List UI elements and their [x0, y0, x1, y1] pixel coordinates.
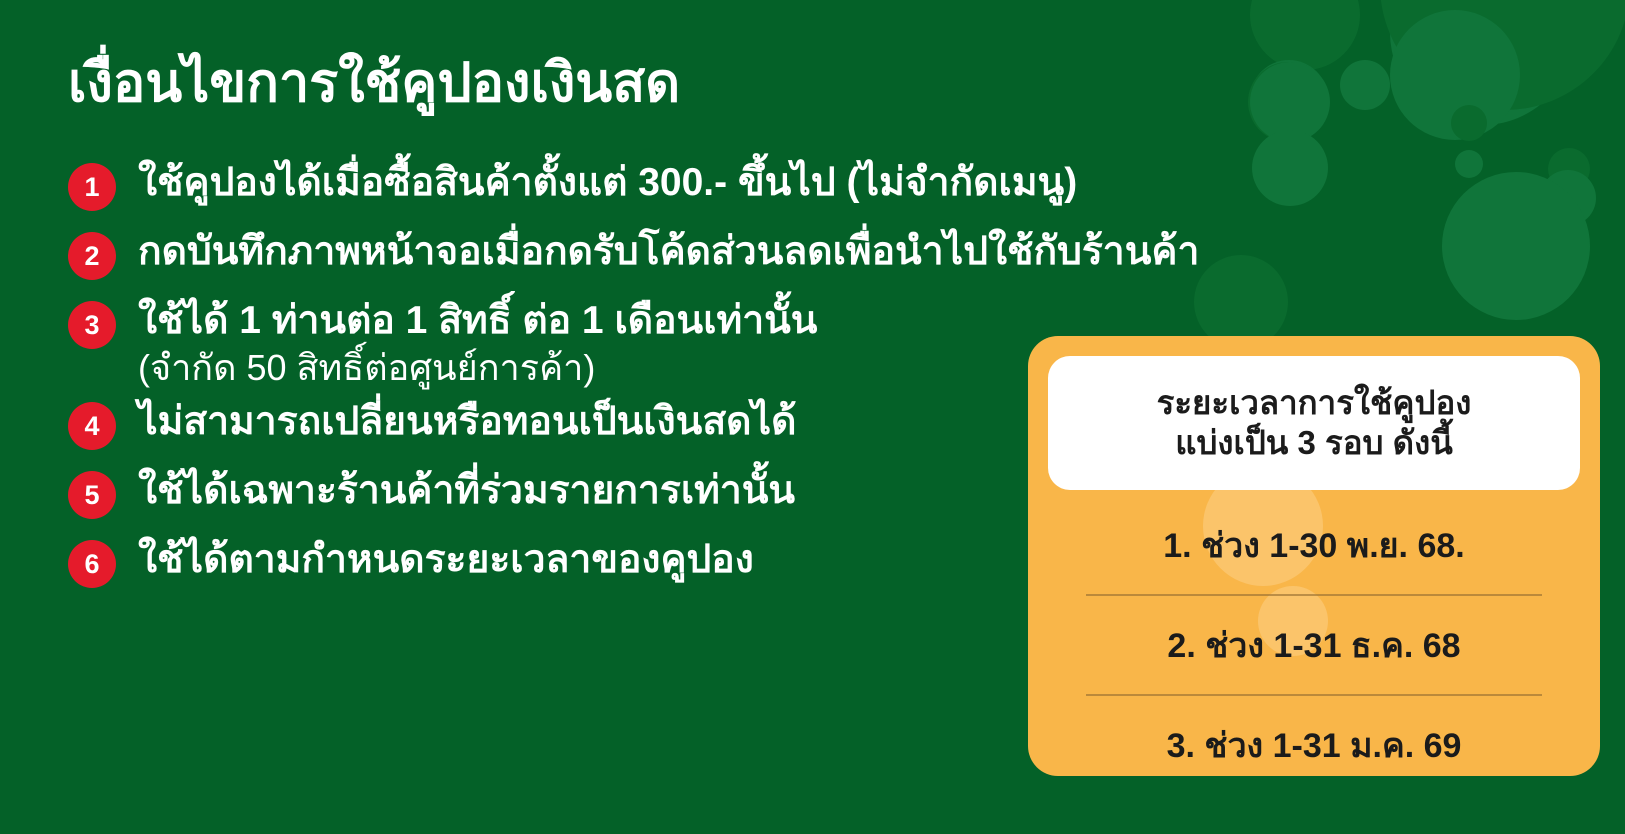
- conditions-list: 1 ใช้คูปองได้เมื่อซื้อสินค้าตั้งแต่ 300.…: [68, 160, 1018, 606]
- bokeh-circle: [1442, 172, 1590, 320]
- period-rows: 1. ช่วง 1-30 พ.ย. 68. 2. ช่วง 1-31 ธ.ค. …: [1028, 496, 1600, 776]
- number-badge: 3: [68, 301, 116, 349]
- list-item-subtext: (จำกัด 50 สิทธิ์ต่อศูนย์การค้า): [138, 346, 817, 389]
- list-item-text: ใช้ได้ตามกำหนดระยะเวลาของคูปอง: [138, 537, 754, 583]
- list-item: 1 ใช้คูปองได้เมื่อซื้อสินค้าตั้งแต่ 300.…: [68, 160, 1018, 211]
- number-badge: 5: [68, 471, 116, 519]
- bokeh-circle: [1252, 130, 1328, 206]
- list-item: 2 กดบันทึกภาพหน้าจอเมื่อกดรับโค้ดส่วนลดเ…: [68, 229, 1018, 280]
- bokeh-circle: [1340, 60, 1390, 110]
- list-item: 4 ไม่สามารถเปลี่ยนหรือทอนเป็นเงินสดได้: [68, 399, 1018, 450]
- bokeh-circle: [1252, 66, 1326, 140]
- list-item-text: ใช้คูปองได้เมื่อซื้อสินค้าตั้งแต่ 300.- …: [138, 160, 1077, 206]
- number-badge: 6: [68, 540, 116, 588]
- coupon-period-card: ระยะเวลาการใช้คูปอง แบ่งเป็น 3 รอบ ดังนี…: [1028, 336, 1600, 776]
- bokeh-circle: [1250, 0, 1360, 70]
- bokeh-circle: [1194, 255, 1288, 349]
- period-card-header: ระยะเวลาการใช้คูปอง แบ่งเป็น 3 รอบ ดังนี…: [1048, 356, 1580, 490]
- list-item-body: ใช้ได้ 1 ท่านต่อ 1 สิทธิ์ ต่อ 1 เดือนเท่…: [138, 298, 817, 389]
- bokeh-circle: [1252, 66, 1326, 140]
- bokeh-circle: [1250, 62, 1330, 142]
- bokeh-circle: [1451, 105, 1487, 141]
- list-item-body: ใช้ได้ตามกำหนดระยะเวลาของคูปอง: [138, 537, 754, 583]
- list-item-body: ใช้ได้เฉพาะร้านค้าที่ร่วมรายการเท่านั้น: [138, 468, 795, 514]
- page-title: เงื่อนไขการใช้คูปองเงินสด: [68, 52, 680, 114]
- list-item-text: ใช้ได้ 1 ท่านต่อ 1 สิทธิ์ ต่อ 1 เดือนเท่…: [138, 298, 817, 344]
- list-item-text: กดบันทึกภาพหน้าจอเมื่อกดรับโค้ดส่วนลดเพื…: [138, 229, 1199, 275]
- list-item: 3 ใช้ได้ 1 ท่านต่อ 1 สิทธิ์ ต่อ 1 เดือนเ…: [68, 298, 1018, 389]
- number-badge: 4: [68, 402, 116, 450]
- list-item-body: ใช้คูปองได้เมื่อซื้อสินค้าตั้งแต่ 300.- …: [138, 160, 1077, 206]
- period-card-header-line1: ระยะเวลาการใช้คูปอง: [1157, 383, 1472, 423]
- period-row: 2. ช่วง 1-31 ธ.ค. 68: [1028, 596, 1600, 694]
- list-item: 6 ใช้ได้ตามกำหนดระยะเวลาของคูปอง: [68, 537, 1018, 588]
- period-row: 1. ช่วง 1-30 พ.ย. 68.: [1028, 496, 1600, 594]
- list-item-text: ใช้ได้เฉพาะร้านค้าที่ร่วมรายการเท่านั้น: [138, 468, 795, 514]
- bokeh-circle: [1540, 170, 1596, 226]
- list-item: 5 ใช้ได้เฉพาะร้านค้าที่ร่วมรายการเท่านั้…: [68, 468, 1018, 519]
- period-row: 3. ช่วง 1-31 ม.ค. 69: [1028, 696, 1600, 776]
- bokeh-circle: [1390, 0, 1575, 125]
- bokeh-circle: [1455, 150, 1483, 178]
- number-badge: 1: [68, 163, 116, 211]
- coupon-conditions-poster: เงื่อนไขการใช้คูปองเงินสด 1 ใช้คูปองได้เ…: [0, 0, 1625, 834]
- bokeh-circle: [1380, 0, 1625, 110]
- conditions-column: เงื่อนไขการใช้คูปองเงินสด 1 ใช้คูปองได้เ…: [0, 0, 1030, 834]
- number-badge: 2: [68, 232, 116, 280]
- bokeh-circle: [1548, 148, 1590, 190]
- list-item-text: ไม่สามารถเปลี่ยนหรือทอนเป็นเงินสดได้: [138, 399, 796, 445]
- list-item-body: ไม่สามารถเปลี่ยนหรือทอนเป็นเงินสดได้: [138, 399, 796, 445]
- period-card-header-line2: แบ่งเป็น 3 รอบ ดังนี้: [1175, 423, 1453, 463]
- bokeh-circle: [1248, 62, 1328, 142]
- bokeh-circle: [1250, 60, 1328, 138]
- list-item-body: กดบันทึกภาพหน้าจอเมื่อกดรับโค้ดส่วนลดเพื…: [138, 229, 1199, 275]
- bokeh-circle: [1390, 10, 1520, 140]
